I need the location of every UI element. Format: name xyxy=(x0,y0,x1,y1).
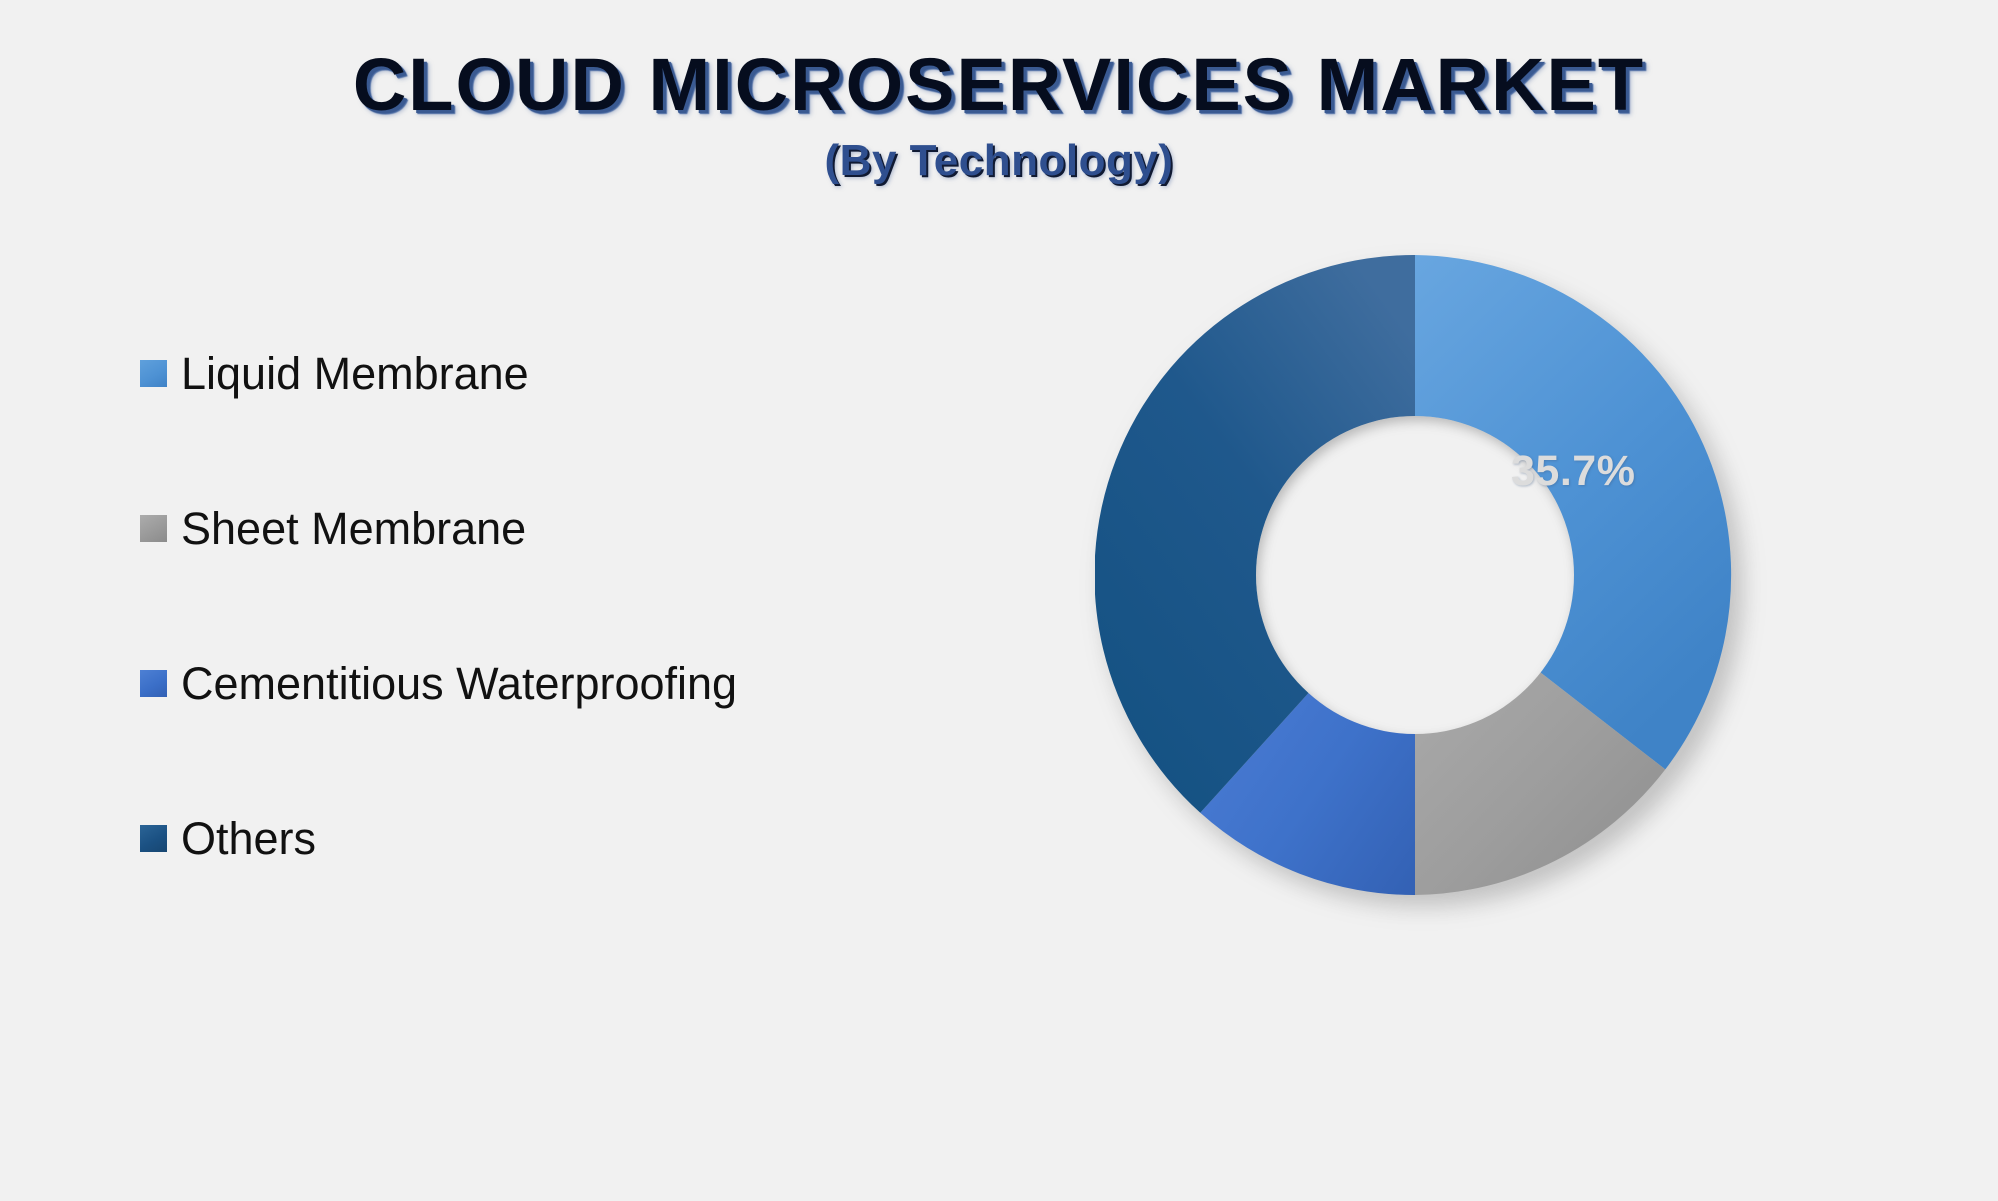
legend-item-cementitious-waterproofing[interactable]: Cementitious Waterproofing xyxy=(140,606,900,761)
legend-item-liquid-membrane[interactable]: Liquid Membrane xyxy=(140,296,900,451)
page-title: CLOUD MICROSERVICES MARKET xyxy=(0,48,1998,122)
legend-item-others[interactable]: Others xyxy=(140,761,900,916)
title-block: CLOUD MICROSERVICES MARKET (By Technolog… xyxy=(0,0,1998,186)
legend-swatch-icon-others xyxy=(140,825,167,852)
legend-label-liquid-membrane: Liquid Membrane xyxy=(181,351,529,396)
legend-label-sheet-membrane: Sheet Membrane xyxy=(181,506,526,551)
legend-swatch-icon-sheet-membrane xyxy=(140,515,167,542)
legend-label-others: Others xyxy=(181,816,316,861)
legend-swatch-icon-cementitious-waterproofing xyxy=(140,670,167,697)
page-subtitle: (By Technology) xyxy=(0,136,1998,186)
slice-data-label-liquid-membrane: 35.7% xyxy=(1511,447,1635,496)
legend-item-sheet-membrane[interactable]: Sheet Membrane xyxy=(140,451,900,606)
legend-swatch-icon-liquid-membrane xyxy=(140,360,167,387)
donut-chart: 35.7% xyxy=(1095,255,1735,895)
legend-label-cementitious-waterproofing: Cementitious Waterproofing xyxy=(181,661,737,706)
chart-legend: Liquid Membrane Sheet Membrane Cementiti… xyxy=(140,296,900,916)
